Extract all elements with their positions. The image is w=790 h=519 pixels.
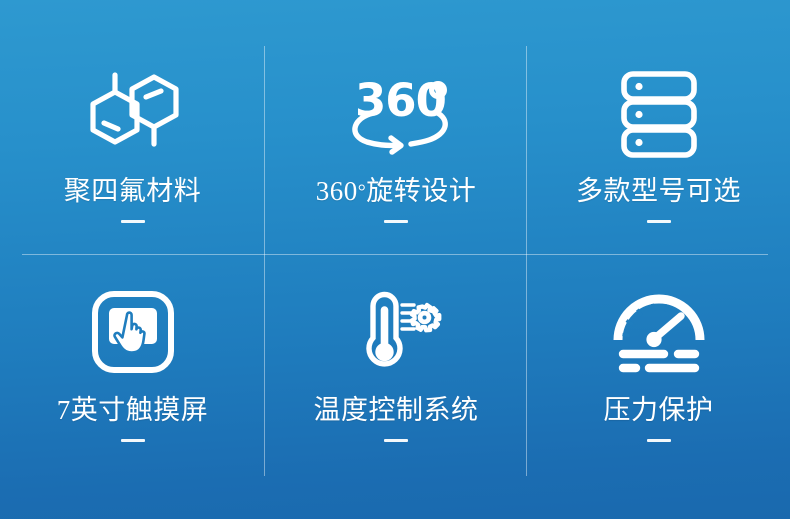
- rotation-360-icon-text: 360: [355, 74, 446, 127]
- feature-label-number: 360: [316, 176, 358, 206]
- feature-label: 360°旋转设计: [316, 176, 477, 207]
- feature-label-text: 旋转设计: [366, 176, 476, 206]
- feature-label: 多款型号可选: [576, 176, 741, 207]
- feature-label: 温度控制系统: [314, 395, 479, 426]
- label-underline: [121, 439, 145, 442]
- feature-cell-multiple-models[interactable]: 多款型号可选: [527, 0, 790, 255]
- feature-label: 7英寸触摸屏: [57, 395, 209, 426]
- feature-banner: 聚四氟材料 360: [0, 0, 790, 519]
- label-underline: [384, 220, 408, 223]
- feature-grid: 聚四氟材料 360: [0, 0, 790, 519]
- feature-label: 压力保护: [604, 395, 714, 426]
- server-stack-icon: [614, 66, 704, 164]
- pressure-gauge-icon: [609, 283, 709, 381]
- label-underline: [647, 220, 671, 223]
- feature-label: 聚四氟材料: [64, 176, 202, 207]
- label-underline: [121, 220, 145, 223]
- label-underline: [384, 439, 408, 442]
- feature-cell-ptfe-material[interactable]: 聚四氟材料: [0, 0, 265, 255]
- thermometer-gear-icon: [350, 283, 442, 381]
- feature-cell-pressure-protection[interactable]: 压力保护: [527, 255, 790, 519]
- feature-cell-touchscreen[interactable]: 7英寸触摸屏: [0, 255, 265, 519]
- label-underline: [647, 439, 671, 442]
- rotation-360-icon: 360: [337, 66, 455, 164]
- touchscreen-hand-icon: [90, 283, 176, 381]
- degree-symbol: °: [358, 181, 367, 203]
- feature-cell-360-rotation[interactable]: 360 360°旋转设计: [265, 0, 527, 255]
- hexagon-molecule-icon: [77, 66, 189, 164]
- feature-cell-temperature-control[interactable]: 温度控制系统: [265, 255, 527, 519]
